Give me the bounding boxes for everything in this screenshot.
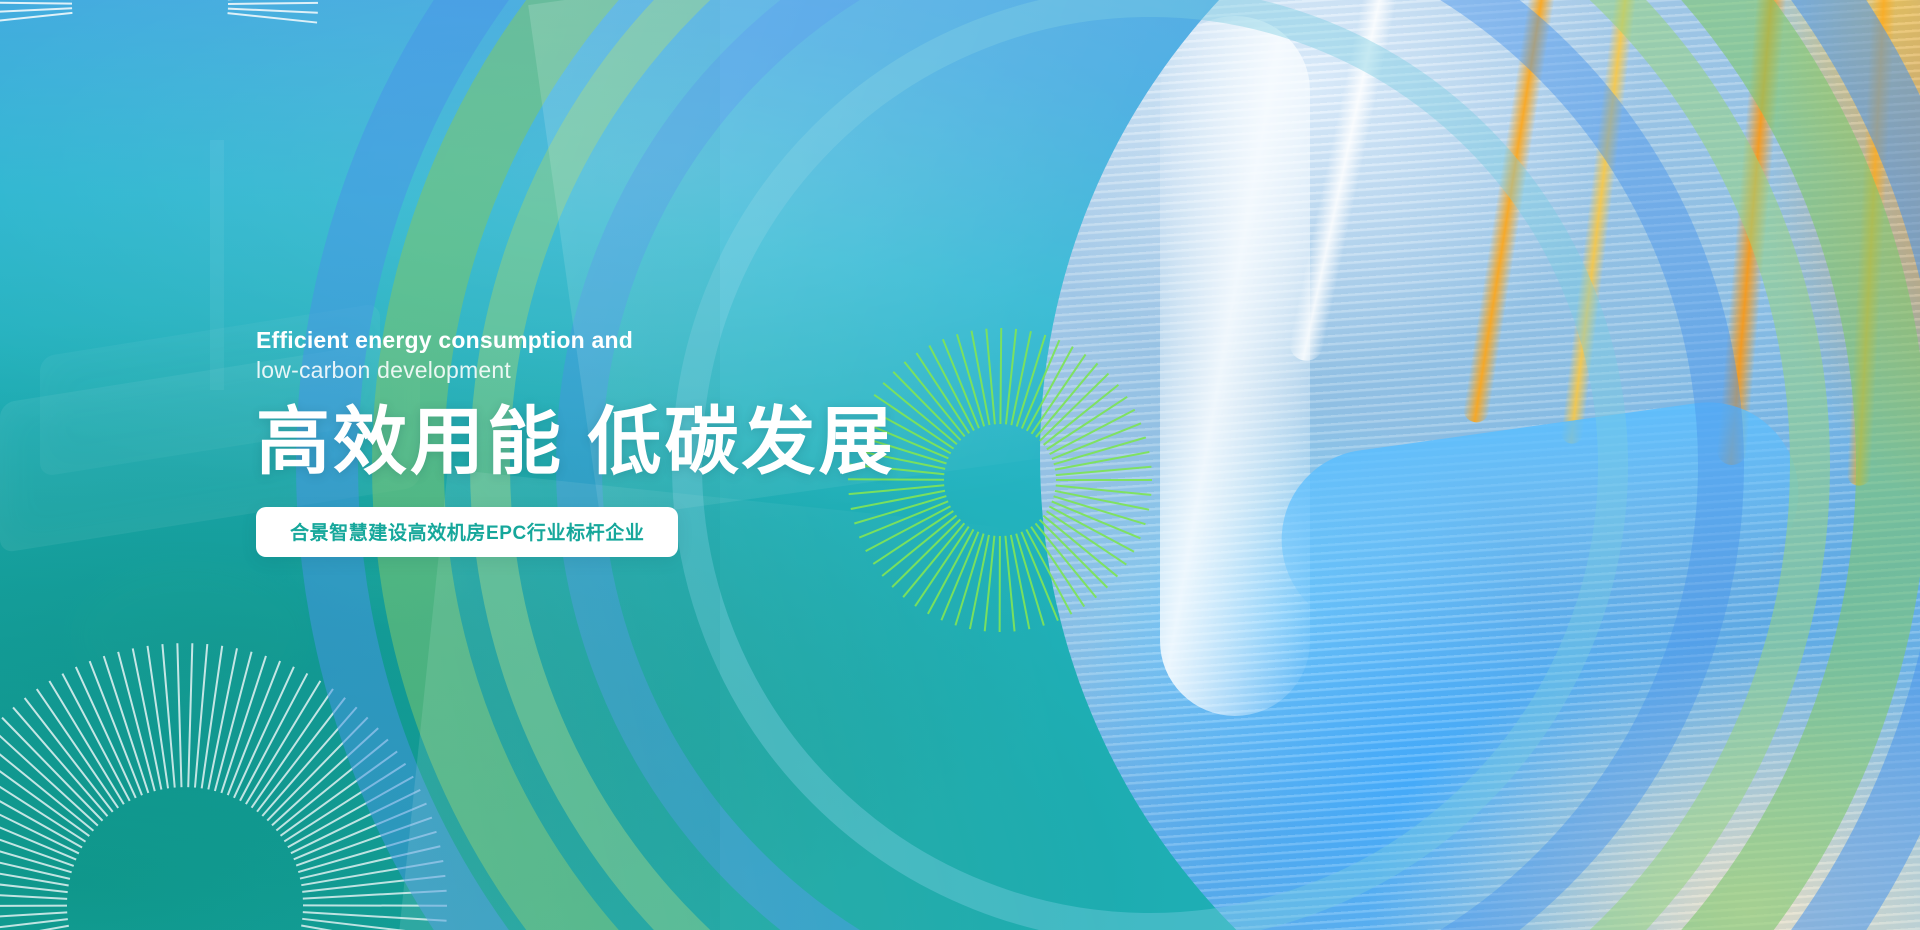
hero-eyebrow-line1: Efficient energy consumption and: [256, 326, 1016, 356]
hero-eyebrow-line2: low-carbon development: [256, 356, 1016, 386]
hero-banner: Efficient energy consumption and low-car…: [0, 0, 1920, 930]
hero-tagline-pill[interactable]: 合景智慧建设高效机房EPC行业标杆企业: [256, 507, 678, 557]
industrial-plant-photo: [1040, 0, 1920, 930]
hero-eyebrow: Efficient energy consumption and low-car…: [256, 326, 1016, 386]
hero-headline: 高效用能 低碳发展: [256, 404, 1016, 481]
hero-copy: Efficient energy consumption and low-car…: [256, 326, 1016, 557]
photo-pipe-overlay: [1040, 0, 1920, 930]
